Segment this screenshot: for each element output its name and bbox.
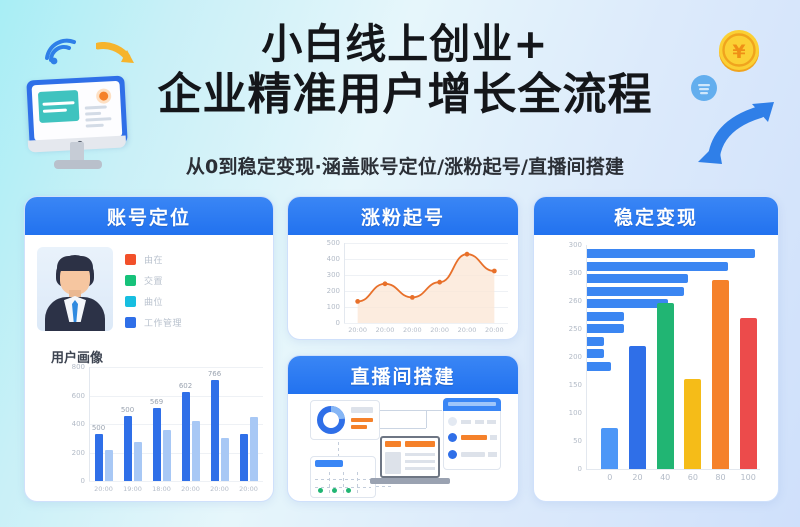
bar bbox=[163, 430, 171, 481]
bar bbox=[601, 428, 618, 469]
horizontal-bar bbox=[587, 249, 755, 258]
x-tick-label: 18:00 bbox=[152, 485, 171, 493]
horizontal-bar bbox=[587, 312, 624, 321]
avatar bbox=[37, 247, 113, 331]
y-tick-label: 600 bbox=[72, 392, 85, 400]
poster-canvas: ¥ 小白线上创业+ 企业精准用户增长全流程 从0到稳定变现·涵盖账号定位/涨粉起… bbox=[0, 0, 800, 527]
bar bbox=[182, 392, 190, 481]
y-tick-label: 0 bbox=[578, 465, 582, 473]
x-tick-label: 60 bbox=[688, 473, 698, 482]
x-tick-label: 20:00 bbox=[210, 485, 229, 493]
card-header: 涨粉起号 bbox=[288, 197, 518, 235]
title-line-1: 小白线上创业+ bbox=[120, 22, 690, 68]
x-tick-label: 20:00 bbox=[403, 326, 422, 334]
x-tick-label: 20:00 bbox=[239, 485, 258, 493]
legend-label-3: 工作管理 bbox=[144, 316, 182, 329]
legend-swatch-1 bbox=[125, 275, 136, 286]
horizontal-bar bbox=[587, 324, 624, 333]
bar bbox=[740, 318, 757, 469]
bar bbox=[124, 416, 132, 481]
bar bbox=[684, 379, 701, 469]
account-bar-chart: 020040060080050020:0050019:0056918:00602… bbox=[67, 367, 263, 497]
desktop-monitor-icon bbox=[24, 78, 130, 174]
horizontal-bar bbox=[587, 349, 604, 358]
card-stable-monetization[interactable]: 稳定变现 05010015020025026030030002040608010… bbox=[533, 196, 779, 502]
x-tick-label: 20:00 bbox=[181, 485, 200, 493]
card-title: 稳定变现 bbox=[614, 203, 698, 230]
avatar-caption: 用户画像 bbox=[25, 341, 273, 366]
x-tick-label: 80 bbox=[715, 473, 725, 482]
bar bbox=[240, 434, 248, 481]
x-tick-label: 20 bbox=[632, 473, 642, 482]
y-tick-label: 150 bbox=[569, 381, 582, 389]
x-axis bbox=[586, 469, 760, 470]
bar bbox=[629, 346, 646, 469]
y-tick-label: 300 bbox=[569, 269, 582, 277]
line-series bbox=[322, 243, 508, 337]
gridline bbox=[89, 396, 263, 397]
y-axis bbox=[89, 367, 90, 481]
y-tick-label: 300 bbox=[569, 241, 582, 249]
horizontal-bar bbox=[587, 262, 728, 271]
legend-label-2: 曲位 bbox=[144, 295, 163, 308]
bar-value-label: 602 bbox=[179, 382, 192, 390]
legend-swatch-3 bbox=[125, 317, 136, 328]
donut-chart-icon bbox=[316, 405, 346, 435]
y-tick-label: 100 bbox=[569, 409, 582, 417]
bar-value-label: 766 bbox=[208, 370, 221, 378]
horizontal-bar bbox=[587, 362, 611, 371]
horizontal-bar bbox=[587, 287, 684, 296]
blue-double-arrow-icon bbox=[696, 96, 778, 170]
bar-value-label: 569 bbox=[150, 398, 163, 406]
gridline bbox=[89, 367, 263, 368]
legend-swatch-0 bbox=[125, 254, 136, 265]
bar bbox=[153, 408, 161, 481]
x-tick-label: 0 bbox=[607, 473, 612, 482]
gridline bbox=[89, 481, 263, 482]
bar bbox=[95, 434, 103, 481]
horizontal-bar bbox=[587, 274, 688, 283]
x-tick-label: 19:00 bbox=[123, 485, 142, 493]
gridline bbox=[89, 453, 263, 454]
bar bbox=[105, 450, 113, 481]
page-title: 小白线上创业+ 企业精准用户增长全流程 bbox=[120, 22, 690, 121]
y-tick-label: 400 bbox=[72, 420, 85, 428]
x-tick-label: 20:00 bbox=[376, 326, 395, 334]
card-header: 稳定变现 bbox=[534, 197, 778, 235]
money-combined-chart: 050100150200250260300300020406080100 bbox=[582, 245, 760, 485]
bar-value-label: 500 bbox=[92, 424, 105, 432]
card-title: 直播间搭建 bbox=[350, 362, 455, 389]
live-room-setup-diagram bbox=[288, 394, 519, 502]
bar bbox=[657, 303, 674, 469]
fans-line-chart: 010020030040050020:0020:0020:0020:0020:0… bbox=[322, 243, 508, 337]
x-tick-label: 20:00 bbox=[485, 326, 504, 334]
x-tick-label: 20:00 bbox=[458, 326, 477, 334]
gridline bbox=[89, 424, 263, 425]
legend-label-1: 交置 bbox=[144, 274, 163, 287]
legend-item: 由在 bbox=[125, 253, 182, 266]
x-tick-label: 100 bbox=[741, 473, 756, 482]
coin-symbol: ¥ bbox=[732, 41, 745, 63]
bar bbox=[712, 280, 729, 469]
bar bbox=[192, 421, 200, 481]
legend-item: 曲位 bbox=[125, 295, 182, 308]
y-tick-label: 200 bbox=[569, 353, 582, 361]
hero-banner: ¥ 小白线上创业+ 企业精准用户增长全流程 从0到稳定变现·涵盖账号定位/涨粉起… bbox=[0, 0, 800, 190]
legend-item: 工作管理 bbox=[125, 316, 182, 329]
y-tick-label: 0 bbox=[81, 477, 85, 485]
wifi-signal-icon bbox=[44, 38, 78, 66]
bar bbox=[221, 438, 229, 481]
card-title: 涨粉起号 bbox=[361, 203, 445, 230]
page-subtitle: 从0到稳定变现·涵盖账号定位/涨粉起号/直播间搭建 bbox=[120, 152, 690, 179]
horizontal-bar bbox=[587, 299, 668, 308]
y-tick-label: 200 bbox=[72, 449, 85, 457]
y-tick-label: 250 bbox=[569, 325, 582, 333]
x-tick-label: 20:00 bbox=[430, 326, 449, 334]
legend: 由在 交置 曲位 工作管理 bbox=[125, 247, 182, 337]
legend-label-0: 由在 bbox=[144, 253, 163, 266]
x-tick-label: 20:00 bbox=[348, 326, 367, 334]
title-line-2: 企业精准用户增长全流程 bbox=[120, 70, 690, 121]
card-account-positioning[interactable]: 账号定位 由在 交置 曲位 bbox=[24, 196, 274, 502]
horizontal-bar bbox=[587, 337, 604, 346]
y-tick-label: 800 bbox=[72, 363, 85, 371]
card-live-room-setup[interactable]: 直播间搭建 bbox=[287, 355, 519, 502]
yen-coin-icon: ¥ bbox=[716, 28, 762, 74]
legend-item: 交置 bbox=[125, 274, 182, 287]
y-tick-label: 50 bbox=[573, 437, 582, 445]
y-tick-label: 260 bbox=[569, 297, 582, 305]
persona-section: 由在 交置 曲位 工作管理 bbox=[25, 235, 273, 341]
bar bbox=[211, 380, 219, 481]
card-header: 直播间搭建 bbox=[288, 356, 518, 394]
card-title: 账号定位 bbox=[107, 203, 191, 230]
x-tick-label: 20:00 bbox=[94, 485, 113, 493]
bar-value-label: 500 bbox=[121, 406, 134, 414]
card-header: 账号定位 bbox=[25, 197, 273, 235]
x-tick-label: 40 bbox=[660, 473, 670, 482]
card-fan-growth[interactable]: 涨粉起号 010020030040050020:0020:0020:0020:0… bbox=[287, 196, 519, 340]
bar bbox=[134, 442, 142, 481]
bar bbox=[250, 417, 258, 481]
legend-swatch-2 bbox=[125, 296, 136, 307]
